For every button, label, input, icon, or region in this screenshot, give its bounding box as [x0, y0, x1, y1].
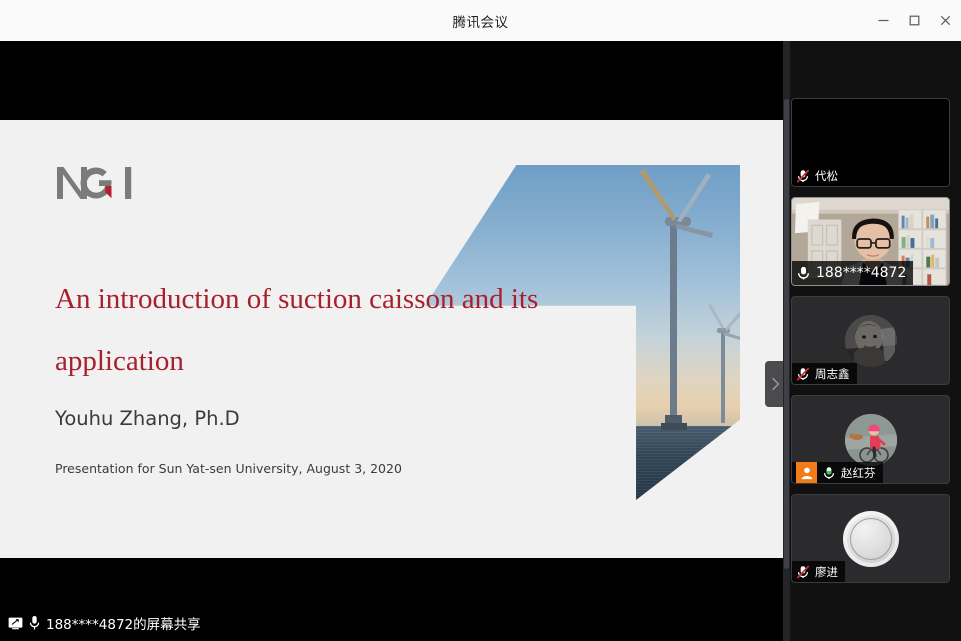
tencent-meeting-window: 腾讯会议 — [0, 0, 961, 641]
slide-title-line-2: application — [55, 330, 655, 392]
slide-subtitle: Presentation for Sun Yat-sen University,… — [55, 461, 402, 476]
ngi-logo-icon — [55, 165, 147, 201]
presentation-slide: An introduction of suction caisson and i… — [0, 120, 783, 558]
avatar-image — [845, 315, 897, 367]
participant-name: 代松 — [815, 168, 838, 184]
screen-share-status-text: 188****4872的屏幕共享 — [46, 613, 201, 633]
close-icon — [939, 14, 952, 27]
close-button[interactable] — [930, 0, 961, 41]
microphone-icon — [796, 265, 811, 281]
participant-namebar: 廖进 — [792, 561, 845, 582]
screen-share-status-bar: 188****4872的屏幕共享 — [0, 608, 783, 638]
participant-namebar: 188****4872 — [792, 261, 913, 285]
participant-namebar: 赵红芬 — [792, 462, 883, 483]
scrollbar-thumb[interactable] — [784, 99, 789, 569]
default-avatar-icon — [843, 511, 899, 567]
participant-tile-daisong[interactable]: 代松 — [791, 98, 950, 187]
window-controls — [868, 0, 961, 41]
participant-name: 赵红芬 — [841, 465, 876, 481]
maximize-icon — [908, 14, 921, 27]
microphone-muted-icon — [796, 565, 810, 579]
participant-tiles: 代松 — [791, 98, 953, 593]
slide-author: Youhu Zhang, Ph.D — [55, 407, 240, 430]
shared-screen-stage[interactable]: An introduction of suction caisson and i… — [0, 41, 783, 641]
participant-panel: 代松 — [783, 41, 961, 641]
ngi-logo — [55, 165, 147, 201]
maximize-button[interactable] — [899, 0, 930, 41]
participant-tile-zhaohongfen[interactable]: 赵红芬 — [791, 395, 950, 484]
microphone-icon — [28, 615, 41, 631]
slide-title-line-1: An introduction of suction caisson and i… — [55, 268, 655, 330]
participant-name: 188****4872 — [816, 265, 906, 281]
host-badge-icon — [796, 462, 817, 483]
microphone-active-icon — [822, 466, 836, 480]
participant-name: 廖进 — [815, 564, 838, 580]
window-titlebar: 腾讯会议 — [0, 0, 961, 42]
participant-tile-zhouzhixin[interactable]: 周志鑫 — [791, 296, 950, 385]
participant-namebar: 周志鑫 — [792, 363, 857, 384]
participant-tile-188-4872[interactable]: 188****4872 — [791, 197, 950, 286]
participant-name: 周志鑫 — [815, 366, 850, 382]
avatar-image — [845, 414, 897, 466]
minimize-icon — [877, 14, 890, 27]
minimize-button[interactable] — [868, 0, 899, 41]
participant-panel-scrollbar[interactable] — [783, 41, 790, 641]
chevron-right-icon — [770, 377, 781, 391]
collapse-panel-button[interactable] — [765, 361, 783, 407]
window-title: 腾讯会议 — [453, 11, 509, 31]
microphone-muted-icon — [796, 169, 810, 183]
participant-tile-liaojin[interactable]: 廖进 — [791, 494, 950, 583]
microphone-muted-icon — [796, 367, 810, 381]
screen-share-icon — [8, 616, 23, 631]
slide-title: An introduction of suction caisson and i… — [55, 268, 655, 392]
participant-namebar: 代松 — [792, 165, 845, 186]
